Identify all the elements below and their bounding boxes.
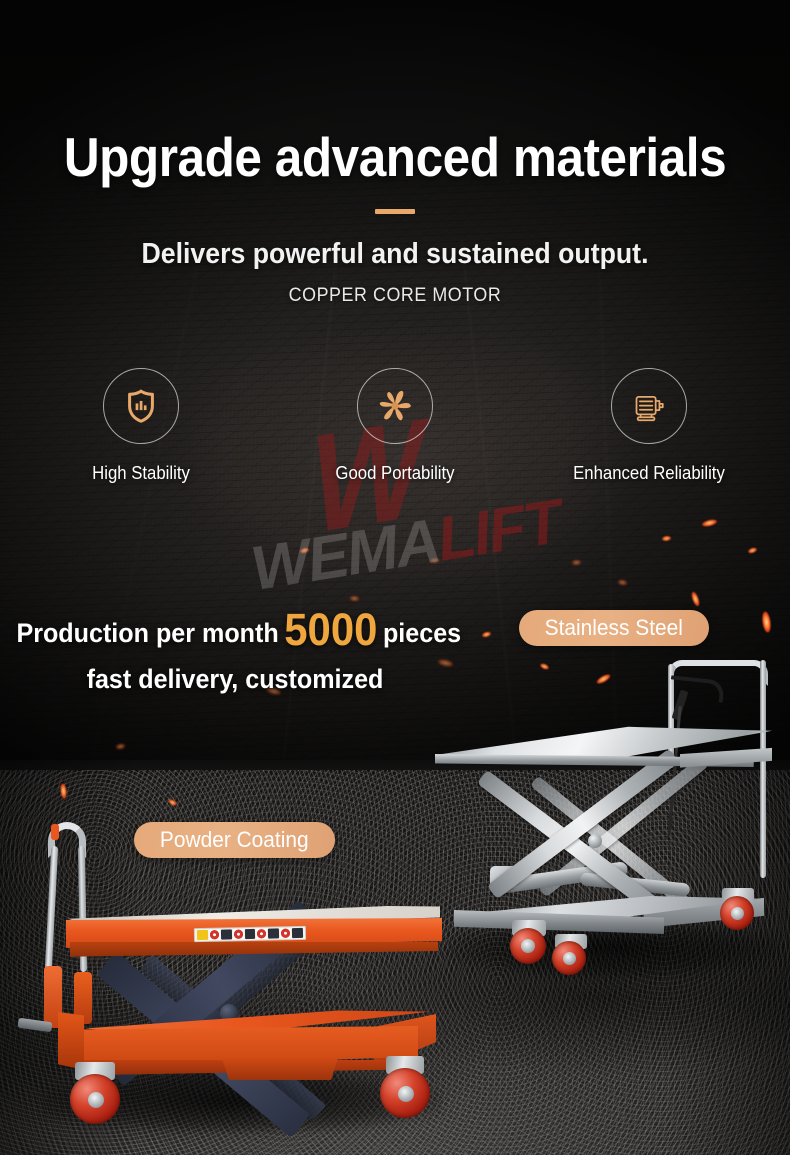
page-kicker-text: COPPER CORE MOTOR (24, 285, 767, 307)
production-prefix: Production per month (16, 618, 278, 648)
feature-icon-frame (357, 368, 433, 444)
feature-label: Enhanced Reliability (570, 463, 728, 484)
feature-icon-frame (611, 368, 687, 444)
scissor-pivot (588, 834, 602, 848)
base-frame-tray (222, 1058, 338, 1080)
lift-handle-post-right (760, 660, 766, 878)
decal-cell (209, 930, 220, 940)
product-image-stainless-scissor-lift (430, 648, 790, 1008)
feature-item-good-portability: Good Portability (310, 368, 480, 484)
electric-motor-icon (629, 386, 669, 426)
decal-cell (233, 929, 244, 939)
feature-list: High Stability Good Portability (0, 368, 790, 484)
decal-cell (197, 930, 208, 940)
headline-block: Upgrade advanced materials Delivers powe… (0, 128, 790, 307)
feature-label: Good Portability (316, 463, 474, 484)
warning-label-decal (194, 926, 306, 942)
decal-cell (268, 928, 279, 938)
decal-cell (244, 929, 255, 939)
material-badge-powder-coating[interactable]: Powder Coating (134, 822, 335, 858)
feature-label: High Stability (62, 463, 220, 484)
decal-cell (256, 929, 267, 939)
feature-item-enhanced-reliability: Enhanced Reliability (564, 368, 734, 484)
badge-label: Stainless Steel (545, 615, 683, 641)
decal-cell (221, 929, 232, 939)
page-subtitle: Delivers powerful and sustained output. (32, 238, 759, 271)
promo-banner: W WEMALIFT Upgrade advanced materials De… (0, 0, 790, 1155)
fan-icon (375, 386, 415, 426)
feature-item-high-stability: High Stability (56, 368, 226, 484)
material-badge-stainless-steel[interactable]: Stainless Steel (519, 610, 709, 646)
production-line-1: Production per month5000pieces (16, 604, 453, 656)
title-divider (375, 209, 415, 214)
caster-hub (398, 1086, 414, 1102)
production-quantity: 5000 (284, 604, 377, 655)
decal-cell (292, 928, 303, 938)
caster-hub (521, 939, 535, 953)
shield-icon (122, 387, 160, 425)
product-image-orange-scissor-lift (18, 810, 468, 1150)
production-line-2: fast delivery, customized (16, 664, 453, 695)
caster-hub (88, 1092, 104, 1108)
production-block: Production per month5000pieces fast deli… (0, 604, 470, 695)
lift-handle-post-left (45, 846, 58, 970)
decal-cell (280, 928, 291, 938)
badge-label: Powder Coating (160, 827, 309, 853)
lift-handle-accent (51, 824, 59, 840)
feature-icon-frame (103, 368, 179, 444)
caster-hub (563, 952, 576, 965)
page-title: Upgrade advanced materials (40, 128, 751, 187)
caster-hub (731, 907, 744, 920)
production-unit: pieces (383, 618, 461, 648)
